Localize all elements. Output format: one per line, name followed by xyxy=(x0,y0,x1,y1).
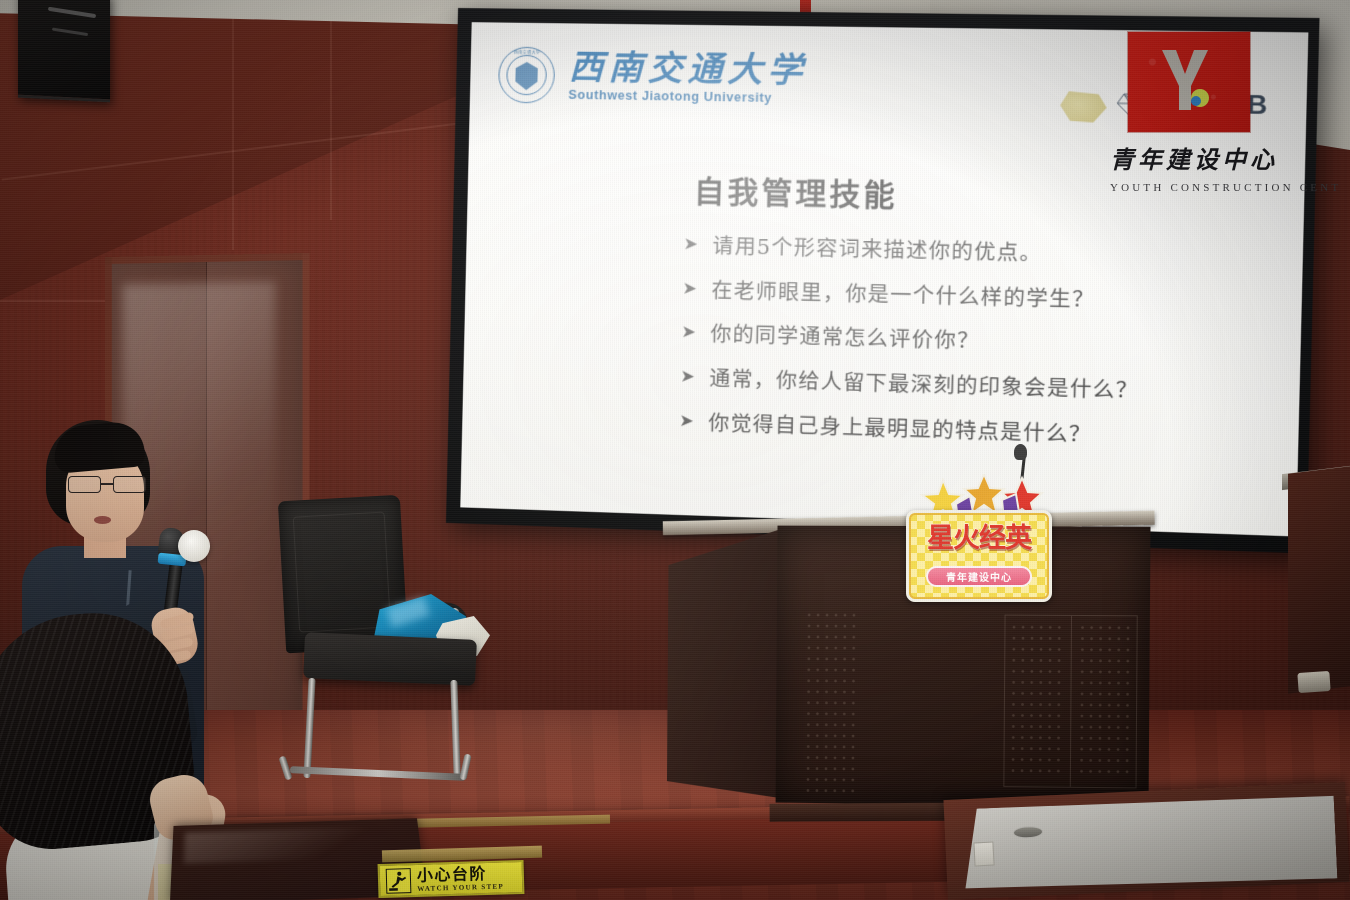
bullet-text: 通常，你给人留下最深刻的印象会是什么？ xyxy=(709,365,1139,404)
glasses-bridge xyxy=(101,483,113,485)
warning-text-cn: 小心台阶 xyxy=(417,865,504,883)
lens-right xyxy=(113,476,146,493)
bullet-text: 请用5个形容词来描述你的优点。 xyxy=(712,233,1043,268)
watch-your-step-sign: 小心台阶 WATCH YOUR STEP xyxy=(378,860,525,898)
arrow-bullet-icon: ➤ xyxy=(683,232,699,257)
wall-seam-vertical xyxy=(232,0,234,250)
speaker-highlight xyxy=(48,7,96,18)
arrow-bullet-icon: ➤ xyxy=(682,276,698,301)
front-table-reflection xyxy=(184,826,384,863)
speaker-hair-fringe xyxy=(52,420,146,474)
chair-back-panel xyxy=(293,512,391,633)
university-name-cn: 西南交通大学 xyxy=(569,50,808,88)
wall-seam-horizontal-2 xyxy=(0,300,110,302)
ycc-name-en: YOUTH CONSTRUCTION CENT xyxy=(1110,182,1310,194)
slip-hazard-icon xyxy=(386,868,412,894)
right-console xyxy=(1288,466,1350,694)
university-logo-block: 西南交通大学 西南交通大学 Southwest Jiaotong Univers… xyxy=(498,47,808,108)
y-letter-icon xyxy=(1156,46,1214,114)
bullet-text: 在老师眼里，你是一个什么样的学生？ xyxy=(711,277,1095,314)
podium-microphone-head-icon xyxy=(1014,444,1027,460)
podium-banner: 星火经英 青年建设中心 xyxy=(906,478,1052,606)
arrow-bullet-icon: ➤ xyxy=(679,408,695,433)
chair-foot-right xyxy=(459,754,471,781)
chair-leg-front-right xyxy=(450,680,460,776)
podium-left-face xyxy=(667,527,786,798)
black-office-chair xyxy=(276,498,486,788)
university-name-block: 西南交通大学 Southwest Jiaotong University xyxy=(568,50,808,105)
bullet-text: 你的同学通常怎么评价你？ xyxy=(710,321,980,355)
banner-subtitle-cn: 青年建设中心 xyxy=(946,569,1012,584)
banner-title-cn: 星火经英 xyxy=(906,516,1052,555)
conference-table xyxy=(943,782,1349,900)
chair-leg-front-left xyxy=(303,678,315,778)
lecture-hall-photo: 西南交通大学 西南交通大学 Southwest Jiaotong Univers… xyxy=(0,0,1350,900)
right-console-foot xyxy=(1297,671,1330,693)
list-item: ➤ 在老师眼里，你是一个什么样的学生？ xyxy=(682,276,1237,317)
banner-subtitle-pill: 青年建设中心 xyxy=(926,566,1032,587)
university-name-en: Southwest Jiaotong University xyxy=(568,87,807,105)
wall-mounted-speaker xyxy=(18,0,110,102)
warning-text-en: WATCH YOUR STEP xyxy=(417,883,504,892)
speaker-grille-right-b xyxy=(1077,622,1133,781)
list-item: ➤ 通常，你给人留下最深刻的印象会是什么？ xyxy=(680,364,1235,407)
speaker-grille-left xyxy=(803,609,858,799)
chair-base-rail xyxy=(290,766,466,781)
table-surface xyxy=(962,792,1338,895)
youth-construction-center-stamp-icon xyxy=(1128,32,1250,132)
list-item: ➤ 你的同学通常怎么评价你？ xyxy=(681,320,1236,362)
podium-access-panel[interactable] xyxy=(1003,615,1137,789)
wall-seam-vertical-2 xyxy=(330,0,332,220)
eyeglasses-icon xyxy=(68,476,150,494)
seal-ring-text: 西南交通大学 xyxy=(500,50,554,57)
speaker-mouth xyxy=(94,516,111,524)
microphone-foam-windscreen xyxy=(178,530,210,562)
arrow-bullet-icon: ➤ xyxy=(680,364,696,389)
slide-bullet-list: ➤ 请用5个形容词来描述你的优点。 ➤ 在老师眼里，你是一个什么样的学生？ ➤ … xyxy=(679,232,1239,470)
speaker-grille-right-a xyxy=(1008,622,1063,781)
cable-grommet-icon xyxy=(1013,826,1044,839)
gold-emblem-icon xyxy=(1060,91,1107,123)
panel-divider xyxy=(1070,616,1072,787)
chair-seat xyxy=(303,632,477,686)
warning-text-block: 小心台阶 WATCH YOUR STEP xyxy=(417,865,504,892)
list-item: ➤ 请用5个形容词来描述你的优点。 xyxy=(683,232,1239,272)
table-label-tag xyxy=(973,841,994,866)
university-seal-icon: 西南交通大学 xyxy=(498,47,556,104)
list-item: ➤ 你觉得自己身上最明显的特点是什么？ xyxy=(679,408,1234,452)
bullet-text: 你觉得自己身上最明显的特点是什么？ xyxy=(708,409,1092,448)
lens-left xyxy=(68,476,101,493)
speaker-highlight-2 xyxy=(52,28,88,37)
arrow-bullet-icon: ➤ xyxy=(681,320,697,345)
ycc-name-cn: 青年建设中心 xyxy=(1110,140,1290,175)
